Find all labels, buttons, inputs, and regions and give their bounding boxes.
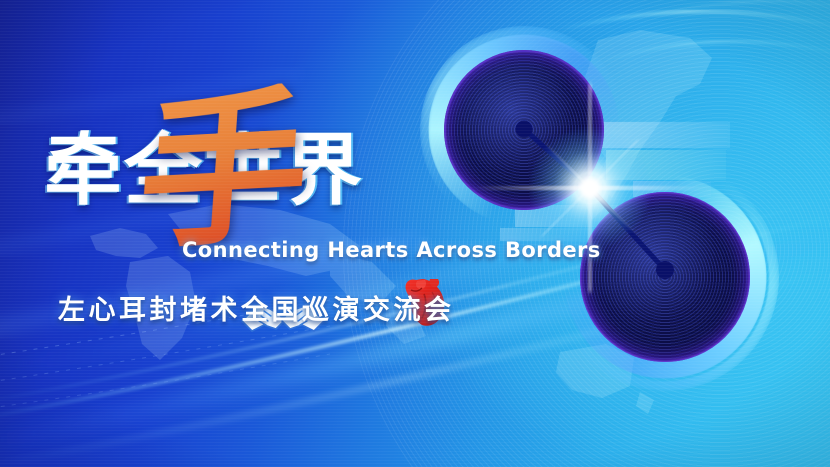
tagline: Connecting Hearts Across Borders [182,238,601,262]
main-title: 牵全世界 [44,128,464,214]
title-char-1: 牵 [44,128,124,214]
title-char-2: 全 [124,128,204,214]
disc-edge-glow [580,192,750,362]
poster-canvas: 牵全世界 手 [0,0,830,467]
disc-edge-glow [444,50,604,210]
title-char-4: 界 [284,128,364,214]
title-char-3: 世 [204,128,284,214]
subtitle: 左心耳封堵术全国巡演交流会 [58,288,455,327]
vortex-disc-bottom [580,192,750,362]
vortex-disc-top [444,50,604,210]
title-block: 牵全世界 手 [44,128,464,214]
